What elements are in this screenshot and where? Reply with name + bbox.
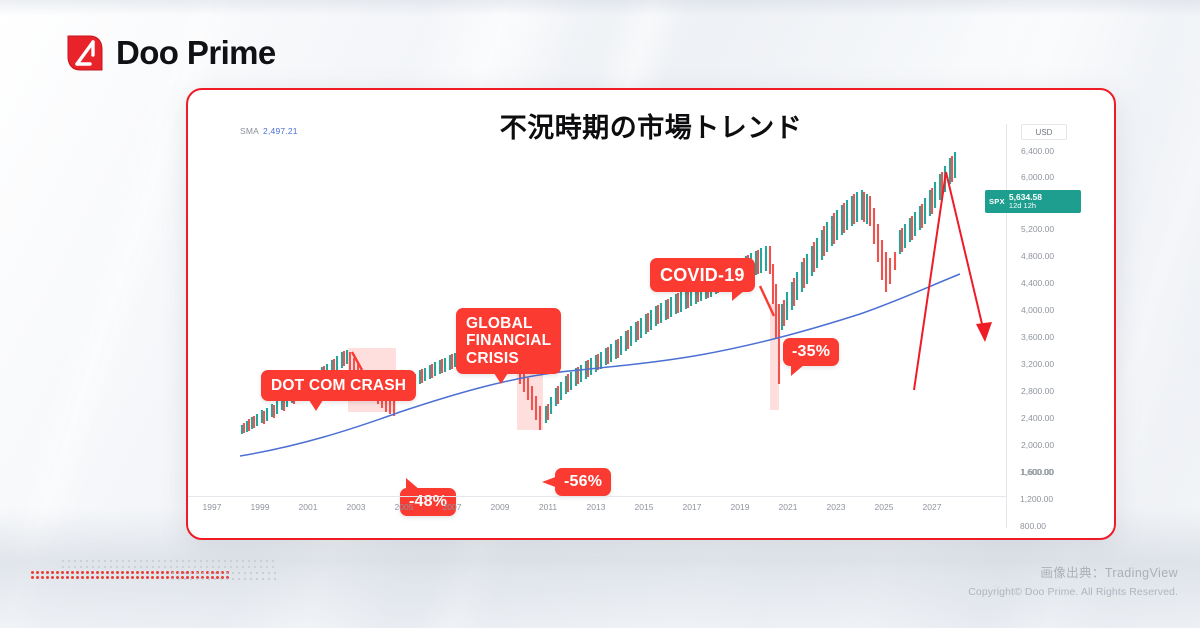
price-tick: 4,000.00 [1021,305,1054,315]
date-tick: 2007 [443,502,462,512]
brand-logo: Doo Prime [66,34,276,72]
badge-drawdown-gfc: -56% [555,468,611,496]
date-tick: 2025 [875,502,894,512]
price-tick: 2,000.00 [1021,440,1054,450]
date-tick: 2019 [731,502,750,512]
annotation-global-financial-crisis: GLOBAL FINANCIAL CRISIS [456,308,561,374]
halftone-decoration [22,558,282,592]
annotation-label: DOT COM CRASH [271,377,406,394]
price-tick: 4,400.00 [1021,278,1054,288]
annotation-dot-com-crash: DOT COM CRASH [261,370,416,401]
badge-tail [542,476,558,488]
plot-area [240,134,1010,494]
date-tick: 1997 [203,502,222,512]
leader-covid [760,286,774,316]
date-tick: 2027 [923,502,942,512]
price-tick: 3,600.00 [1021,332,1054,342]
price-chart-svg [240,134,1010,494]
top-shade [0,0,1200,16]
symbol-price-badge[interactable]: SPX 5,634.58 12d 12h [985,190,1081,213]
badge-tail [406,478,420,490]
chart-card: 不況時期の市場トレンド SMA2,497.21 [186,88,1116,540]
halftone-grey-row [170,570,280,581]
price-tick: 4,800.00 [1021,251,1054,261]
price-tick: 6,000.00 [1021,172,1054,182]
annotation-leaders [352,286,774,370]
doo-prime-logo-icon [66,34,104,72]
annotation-label-line2: FINANCIAL [466,332,551,349]
date-tick: 2005 [395,502,414,512]
price-tick: 6,400.00 [1021,146,1054,156]
symbol-ticker: SPX [989,197,1005,206]
price-tick: 3,200.00 [1021,359,1054,369]
price-tick: 2,800.00 [1021,386,1054,396]
price-axis[interactable]: USD 6,400.00 6,000.00 SPX 5,634.58 12d 1… [1006,124,1114,528]
zone-covid [770,304,779,410]
brand-name: Doo Prime [116,34,276,72]
date-tick: 2015 [635,502,654,512]
callout-tail [309,400,323,411]
date-tick: 2017 [683,502,702,512]
currency-label: USD [1021,124,1067,140]
date-tick: 2013 [587,502,606,512]
callout-tail [494,373,508,384]
image-source: 画像出典：TradingView [968,562,1178,581]
annotation-label-line1: GLOBAL [466,315,551,332]
footer: 画像出典：TradingView Copyright© Doo Prime. A… [968,562,1178,598]
date-tick: 2003 [347,502,366,512]
annotation-covid-19: COVID-19 [650,258,755,292]
date-tick: 2001 [299,502,318,512]
symbol-countdown: 12d 12h [1009,202,1042,210]
badge-label: -56% [564,473,602,490]
price-tick: 5,200.00 [1021,224,1054,234]
date-tick: 2021 [779,502,798,512]
price-tick: 2,400.00 [1021,413,1054,423]
halftone-grey-row [60,558,278,569]
badge-drawdown-covid: -35% [783,338,839,366]
date-tick: 2009 [491,502,510,512]
badge-tail [791,364,805,376]
price-tick: 1,600.00 [1021,467,1054,477]
date-tick: 2011 [539,502,557,512]
highlight-zones [348,304,779,430]
annotation-label: COVID-19 [660,265,745,285]
callout-tail [732,290,745,301]
annotation-label-line3: CRISIS [466,350,551,367]
badge-label: -35% [792,343,830,360]
date-tick: 1999 [251,502,270,512]
date-axis[interactable]: 1997 1999 2001 2003 2005 2007 2009 2011 … [188,496,1006,516]
copyright: Copyright© Doo Prime. All Rights Reserve… [968,586,1178,598]
date-tick: 2023 [827,502,846,512]
